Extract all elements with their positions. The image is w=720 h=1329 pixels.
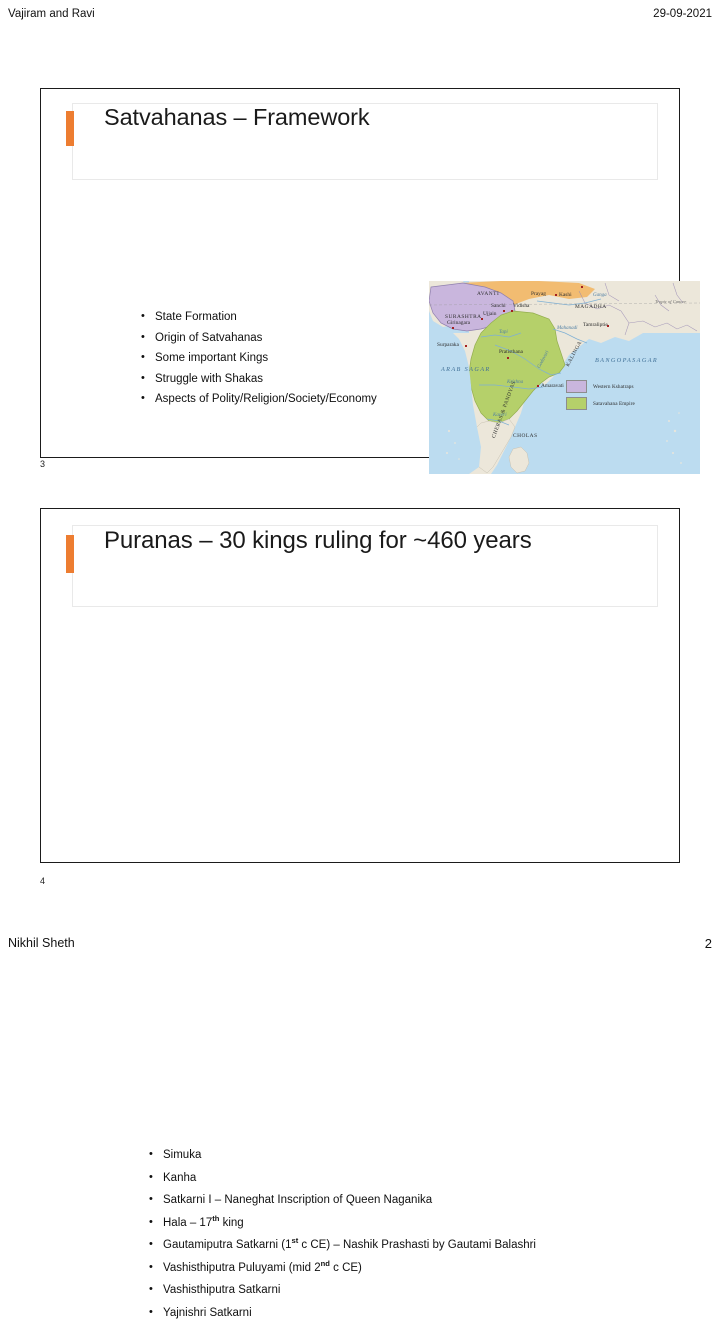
map-graphic [429, 281, 700, 474]
map-legend: Western Kshatraps Satavahana Empire [566, 380, 694, 414]
map-city-dot [503, 310, 505, 312]
list-item: Gautamiputra Satkarni (1st c CE) – Nashi… [149, 1239, 536, 1251]
header-organization: Vajiram and Ravi [8, 8, 95, 20]
footer-page-number: 2 [705, 936, 712, 951]
header-date: 29-09-2021 [653, 8, 712, 20]
map-city-dot [507, 357, 509, 359]
list-item: Aspects of Polity/Religion/Society/Econo… [141, 393, 377, 405]
footer-author: Nikhil Sheth [8, 936, 75, 950]
list-item: Kanha [149, 1172, 536, 1184]
slide-4-bullet-list: Simuka Kanha Satkarni I – Naneghat Inscr… [149, 1149, 536, 1329]
list-item: Hala – 17th king [149, 1217, 536, 1229]
slide-3-title-accent-bar [66, 111, 74, 146]
map-city-dot [452, 327, 454, 329]
legend-item-western-kshatraps: Western Kshatraps [566, 380, 694, 393]
list-item: Origin of Satvahanas [141, 332, 377, 344]
slide-3-bullet-list: State Formation Origin of Satvahanas Som… [141, 311, 377, 414]
slide-number-4: 4 [40, 876, 45, 886]
list-item: Satkarni I – Naneghat Inscription of Que… [149, 1194, 536, 1206]
list-item: Struggle with Shakas [141, 373, 377, 385]
map-city-dot [481, 318, 483, 320]
slide-3-title: Satvahanas – Framework [104, 104, 370, 131]
slide-number-3: 3 [40, 459, 45, 469]
slide-4-title: Puranas – 30 kings ruling for ~460 years [104, 527, 532, 555]
legend-label: Satavahana Empire [593, 401, 635, 407]
legend-item-satavahana-empire: Satavahana Empire [566, 397, 694, 410]
list-item: Yajnishri Satkarni [149, 1307, 536, 1319]
list-item: Simuka [149, 1149, 536, 1161]
satavahana-map-image: AVANTI SURASHTRA MAGADHA CHOLAS CHERAS &… [429, 281, 700, 474]
page-header: Vajiram and Ravi 29-09-2021 [0, 8, 720, 30]
legend-swatch-kshatrap-icon [566, 380, 587, 393]
list-item: Some important Kings [141, 352, 377, 364]
map-city-dot [607, 325, 609, 327]
map-city-dot [537, 385, 539, 387]
page-footer: Nikhil Sheth 2 [0, 936, 720, 958]
map-city-dot [555, 294, 557, 296]
slide-4-title-accent-bar [66, 535, 74, 573]
map-city-dot [511, 310, 513, 312]
slide-4[interactable]: Puranas – 30 kings ruling for ~460 years… [40, 508, 680, 863]
list-item: Vashisthiputra Puluyami (mid 2nd c CE) [149, 1262, 536, 1274]
slide-3[interactable]: Satvahanas – Framework State Formation O… [40, 88, 680, 458]
map-city-dot [581, 286, 583, 288]
legend-label: Western Kshatraps [593, 384, 634, 390]
list-item: Vashisthiputra Satkarni [149, 1284, 536, 1296]
map-city-dot [465, 345, 467, 347]
legend-swatch-satavahana-icon [566, 397, 587, 410]
list-item: State Formation [141, 311, 377, 323]
